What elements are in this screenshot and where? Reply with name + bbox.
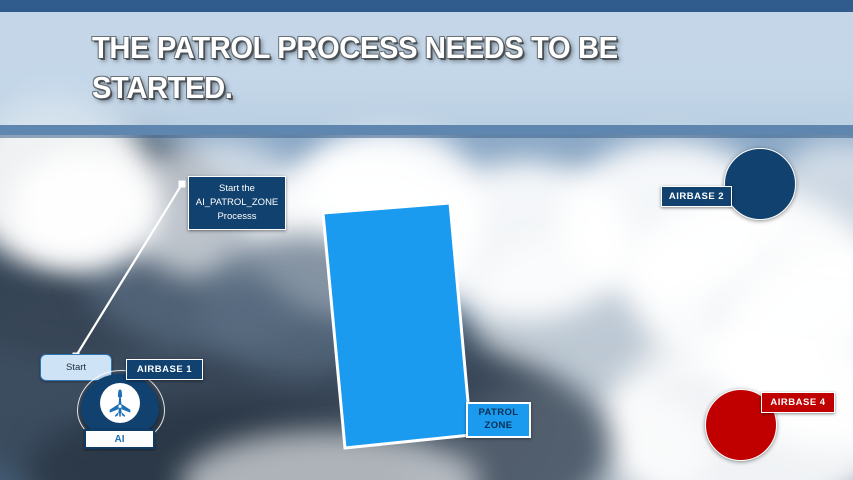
header-top-band — [0, 0, 853, 12]
airbase-1-label-text: AIRBASE 1 — [137, 364, 192, 375]
patrol-zone-label-line1: PATROL — [478, 407, 518, 420]
fighter-jet-icon — [100, 383, 140, 423]
header-bottom-rule — [0, 135, 853, 138]
patrol-zone-label[interactable]: PATROL ZONE — [466, 402, 531, 438]
ai-label[interactable]: AI — [84, 429, 155, 449]
process-box[interactable]: Start the AI_PATROL_ZONE Processs — [188, 176, 286, 230]
process-box-line3: Processs — [217, 210, 256, 224]
header-bottom-band — [0, 125, 853, 135]
airbase-1-label[interactable]: AIRBASE 1 — [126, 359, 203, 380]
airbase-4-label-text: AIRBASE 4 — [770, 397, 825, 408]
airbase-2-marker[interactable] — [724, 148, 796, 220]
start-button-label: Start — [66, 362, 86, 373]
airbase-2-label[interactable]: AIRBASE 2 — [661, 186, 732, 207]
page-title: THE PATROL PROCESS NEEDS TO BE STARTED. — [92, 28, 694, 107]
ai-label-text: AI — [115, 434, 125, 445]
patrol-zone-label-line2: ZONE — [485, 420, 513, 433]
slide-canvas: THE PATROL PROCESS NEEDS TO BE STARTED. … — [0, 0, 853, 480]
airbase-4-label[interactable]: AIRBASE 4 — [761, 392, 835, 413]
airbase-2-label-text: AIRBASE 2 — [669, 191, 724, 202]
process-box-line2: AI_PATROL_ZONE — [196, 196, 279, 210]
process-box-line1: Start the — [219, 182, 255, 196]
